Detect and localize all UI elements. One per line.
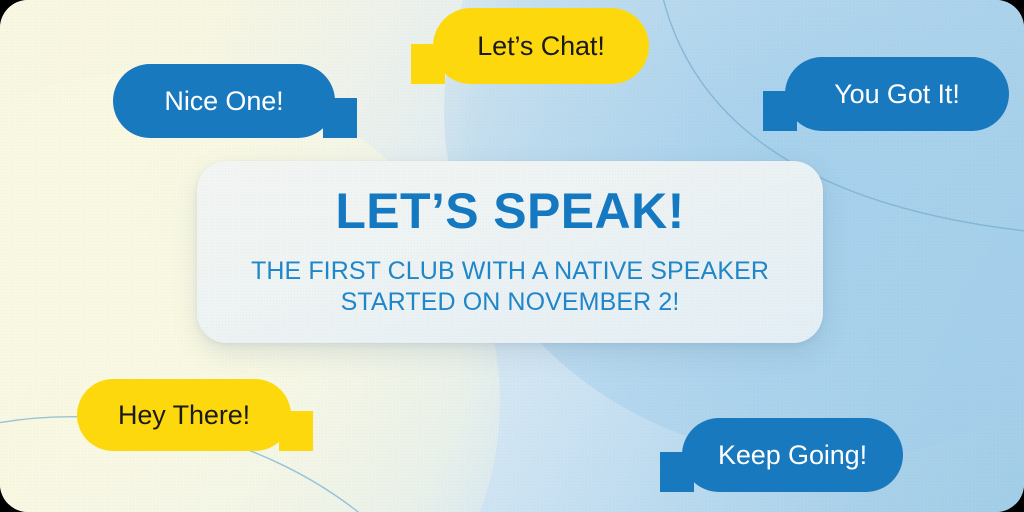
bubble-tail-icon [660,452,694,492]
bubble-tail-icon [323,98,357,138]
promo-banner: Nice One! Let’s Chat! You Got It! Hey Th… [0,0,1024,512]
card-subtitle: THE FIRST CLUB WITH A NATIVE SPEAKER STA… [251,256,769,318]
card-title: LET’S SPEAK! [335,186,684,236]
chat-bubble-keep-going[interactable]: Keep Going! [682,418,903,492]
bubble-tail-icon [411,44,445,84]
chat-bubble-label: Let’s Chat! [477,33,604,60]
chat-bubble-label: Nice One! [164,88,283,115]
card-subtitle-line-2: STARTED ON NOVEMBER 2! [251,287,769,318]
announcement-card: LET’S SPEAK! THE FIRST CLUB WITH A NATIV… [197,161,823,343]
chat-bubble-label: Hey There! [118,402,250,429]
chat-bubble-hey-there[interactable]: Hey There! [77,379,291,451]
chat-bubble-label: Keep Going! [718,442,867,469]
chat-bubble-lets-chat[interactable]: Let’s Chat! [433,8,649,84]
card-subtitle-line-1: THE FIRST CLUB WITH A NATIVE SPEAKER [251,256,769,287]
chat-bubble-label: You Got It! [834,81,960,108]
chat-bubble-you-got-it[interactable]: You Got It! [785,57,1009,131]
bubble-tail-icon [279,411,313,451]
bubble-tail-icon [763,91,797,131]
chat-bubble-nice-one[interactable]: Nice One! [113,64,335,138]
